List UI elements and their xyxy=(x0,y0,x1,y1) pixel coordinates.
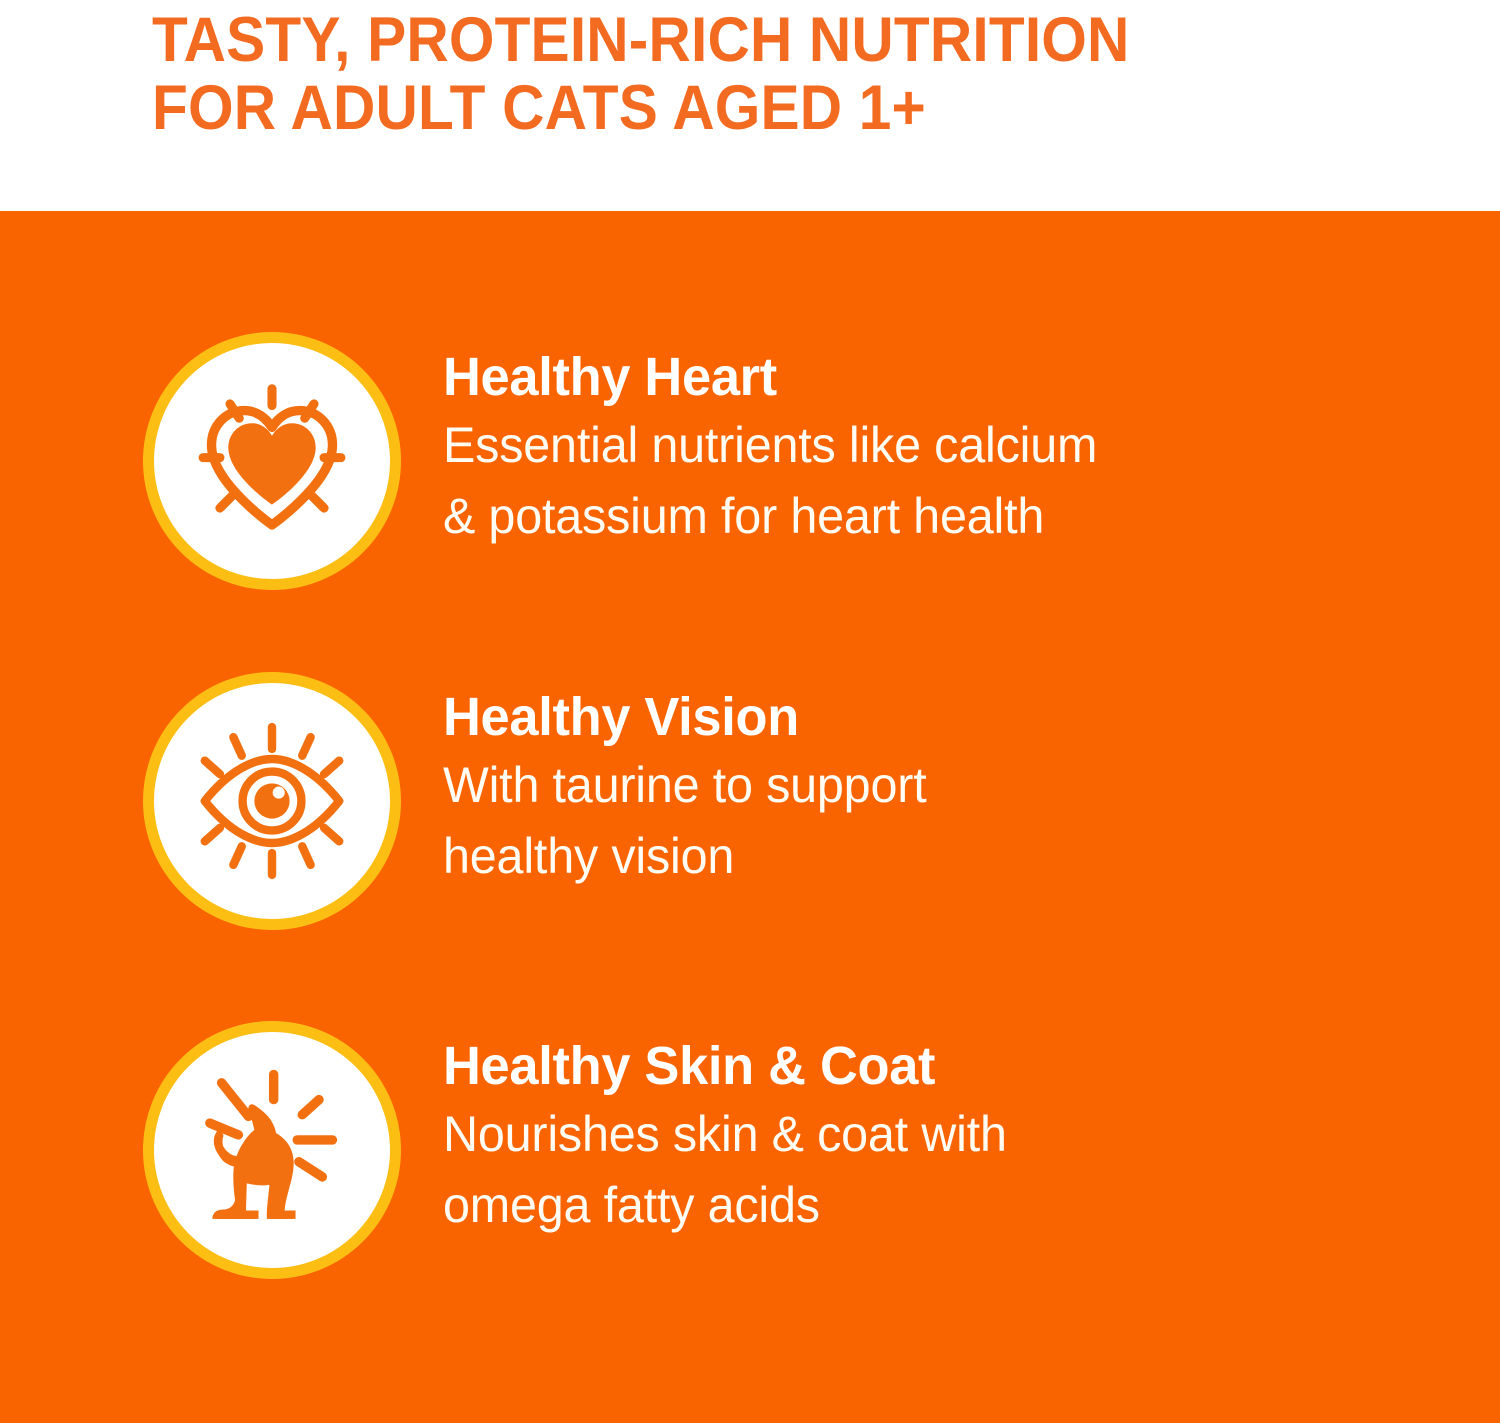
feature-text-healthy-skin-coat: Healthy Skin & Coat Nourishes skin & coa… xyxy=(443,1021,1403,1241)
product-feature-infographic: TASTY, PROTEIN-RICH NUTRITION FOR ADULT … xyxy=(0,0,1500,1423)
feature-description: With taurine to support healthy vision xyxy=(443,750,1374,892)
feature-title: Healthy Skin & Coat xyxy=(443,1035,1374,1097)
feature-text-healthy-heart: Healthy Heart Essential nutrients like c… xyxy=(443,332,1403,552)
feature-title: Healthy Heart xyxy=(443,346,1374,408)
header-band: TASTY, PROTEIN-RICH NUTRITION FOR ADULT … xyxy=(0,0,1500,211)
feature-title: Healthy Vision xyxy=(443,686,1374,748)
cat-rays-icon xyxy=(188,1066,356,1234)
feature-text-healthy-vision: Healthy Vision With taurine to support h… xyxy=(443,672,1403,892)
feature-description: Nourishes skin & coat with omega fatty a… xyxy=(443,1099,1374,1241)
features-panel: Healthy Heart Essential nutrients like c… xyxy=(0,211,1500,1423)
icon-badge-heart xyxy=(143,332,401,590)
icon-badge-cat xyxy=(143,1021,401,1279)
feature-description: Essential nutrients like calcium & potas… xyxy=(443,410,1374,552)
heart-rays-icon xyxy=(188,377,356,545)
feature-row-healthy-vision: Healthy Vision With taurine to support h… xyxy=(0,672,1500,930)
eye-rays-icon xyxy=(188,717,356,885)
feature-row-healthy-heart: Healthy Heart Essential nutrients like c… xyxy=(0,332,1500,590)
feature-row-healthy-skin-coat: Healthy Skin & Coat Nourishes skin & coa… xyxy=(0,1021,1500,1279)
page-title: TASTY, PROTEIN-RICH NUTRITION FOR ADULT … xyxy=(152,6,1352,142)
icon-badge-eye xyxy=(143,672,401,930)
